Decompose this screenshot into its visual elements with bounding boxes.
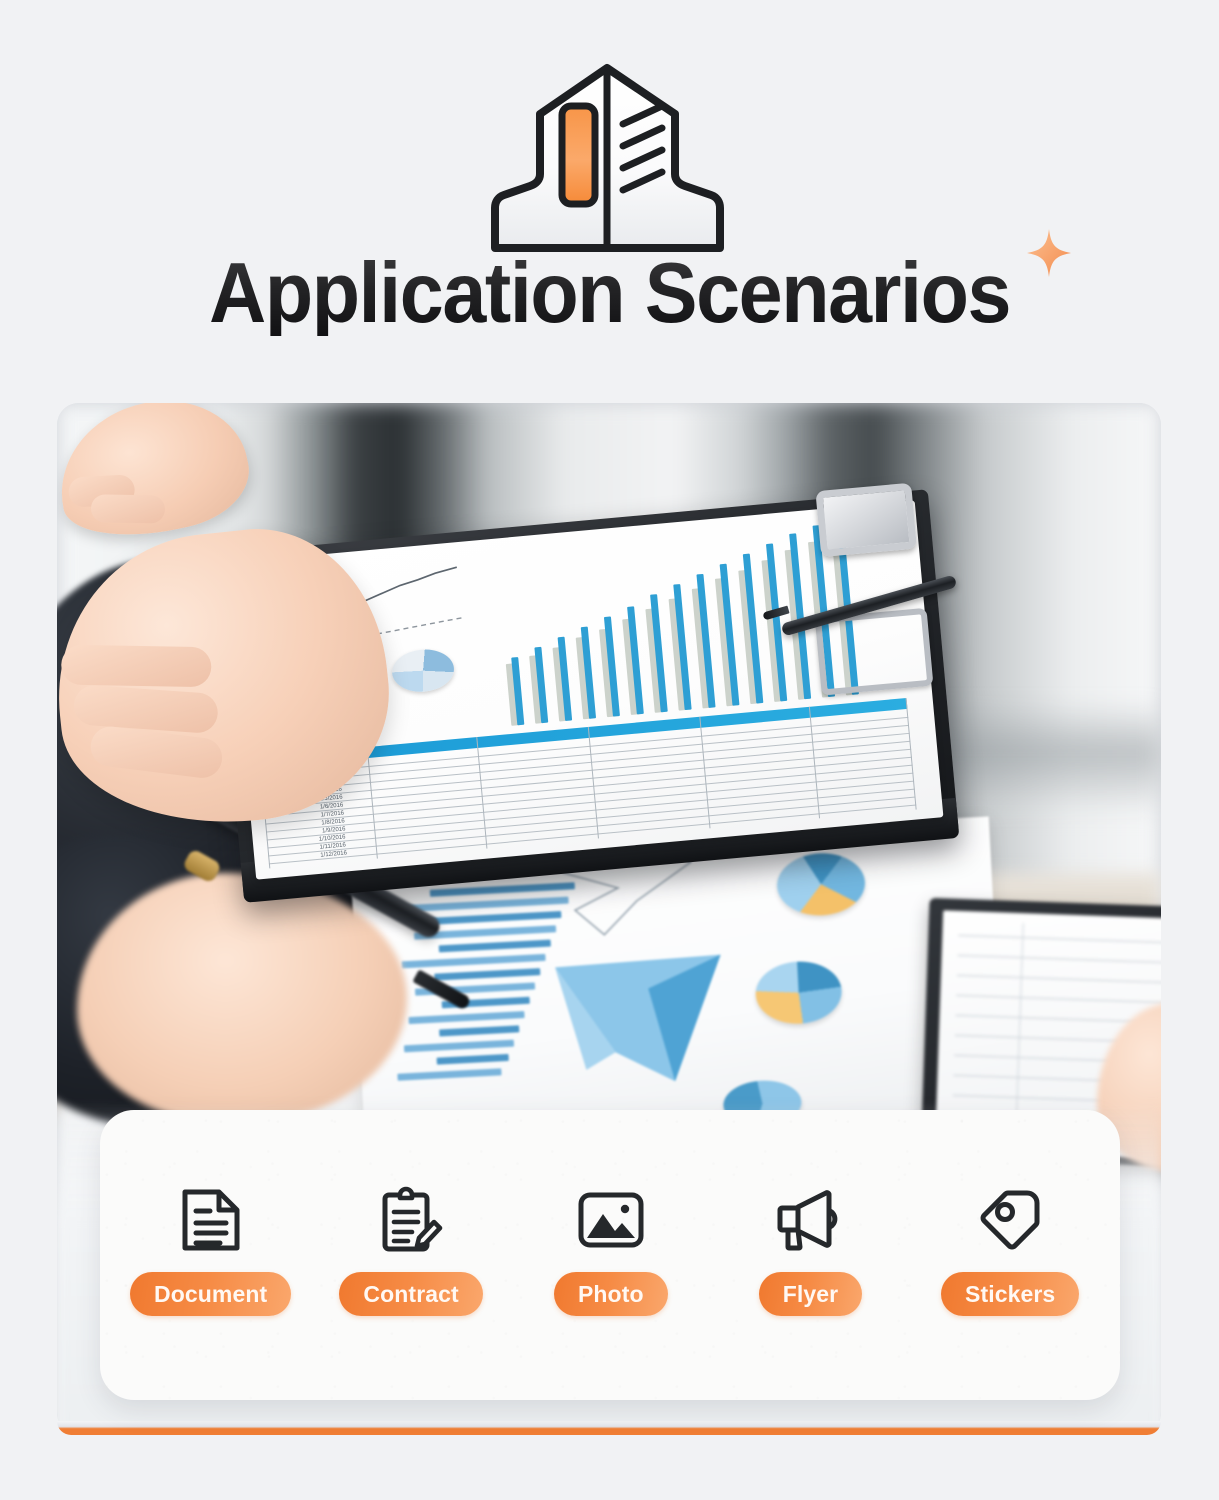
printout-funnel-chart [551,950,733,1094]
image-photo-icon [575,1184,647,1256]
document-page-icon [175,1184,247,1256]
scenario-item-flyer[interactable]: Flyer [731,1184,891,1316]
photo-accent-underline [57,1421,1161,1435]
price-tag-icon [974,1184,1046,1256]
scenario-label-photo[interactable]: Photo [554,1272,668,1316]
scenario-label-document[interactable]: Document [130,1272,291,1316]
building-tower-icon [490,62,725,252]
scenario-label-flyer[interactable]: Flyer [759,1272,862,1316]
scenario-label-contract[interactable]: Contract [339,1272,482,1316]
scenario-label-stickers[interactable]: Stickers [941,1272,1079,1316]
scenario-item-document[interactable]: Document [130,1184,291,1316]
scenario-item-list: Document Contract [100,1110,1120,1400]
scenario-card: Document Contract [100,1110,1120,1400]
scenario-item-contract[interactable]: Contract [331,1184,491,1316]
scenario-item-stickers[interactable]: Stickers [930,1184,1090,1316]
clipboard-pencil-icon [375,1184,447,1256]
page-header: Application Scenarios [0,0,1219,380]
megaphone-icon [774,1184,846,1256]
page-title: Application Scenarios [209,251,1010,336]
scenario-item-photo[interactable]: Photo [531,1184,691,1316]
printout-pie-chart-2 [754,959,843,1025]
sparkle-star-icon [1026,228,1072,278]
report-pie-chart-2 [390,647,456,694]
clipboard-clip [815,483,917,557]
